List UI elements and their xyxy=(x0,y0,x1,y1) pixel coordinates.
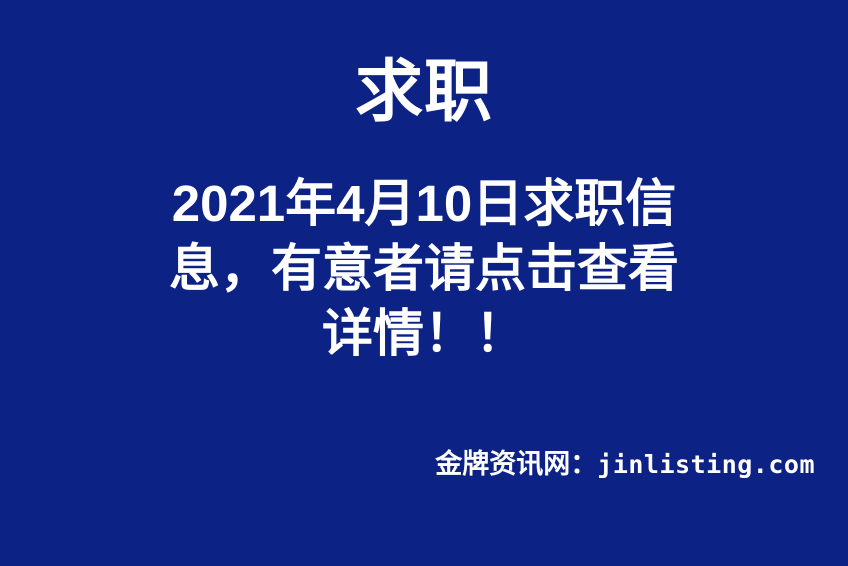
site-url: jinlisting.com xyxy=(597,448,815,482)
announcement-text: 2021年4月10日求职信 息，有意者请点击查看 详情！！ xyxy=(0,171,848,366)
site-name-label: 金牌资讯网： xyxy=(435,447,597,481)
poster-canvas: 求职 2021年4月10日求职信 息，有意者请点击查看 详情！！ 金牌资讯网： … xyxy=(0,0,848,566)
page-title: 求职 xyxy=(0,52,848,132)
announcement-line: 息，有意者请点击查看 xyxy=(0,236,848,301)
announcement-line: 详情！！ xyxy=(0,301,848,366)
site-attribution: 金牌资讯网： jinlisting.com xyxy=(435,447,815,482)
announcement-line: 2021年4月10日求职信 xyxy=(0,171,848,236)
